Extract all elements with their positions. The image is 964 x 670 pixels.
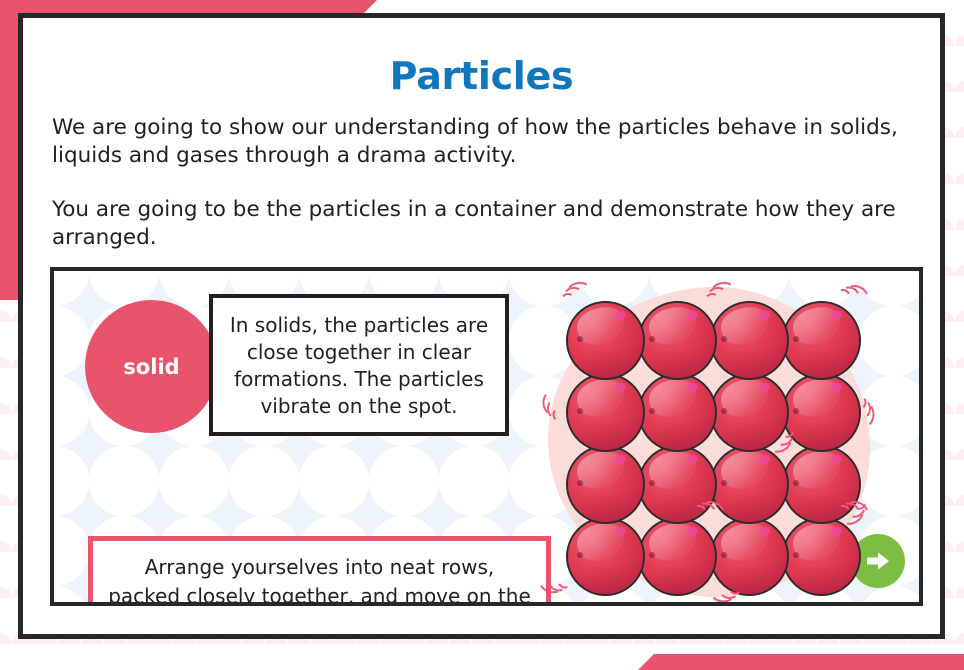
intro-paragraph-2: You are going to be the particles in a c… (52, 196, 924, 252)
particle (638, 517, 717, 596)
particle-shade (782, 566, 861, 597)
particle (782, 517, 861, 596)
particle-dimple (649, 408, 655, 414)
vibration-lines-icon (541, 571, 572, 599)
particle-dimple (649, 336, 655, 342)
decorative-band-left (0, 0, 18, 300)
state-instruction-box: Arrange yourselves into neat rows, packe… (88, 536, 551, 606)
slide-root: Particles We are going to show our under… (0, 0, 964, 670)
particle-dimple (793, 408, 799, 414)
arrow-right-icon (863, 546, 893, 576)
vibration-lines-icon (715, 582, 743, 604)
state-description-box: In solids, the particles are close toget… (209, 294, 509, 436)
particle-shade (566, 350, 645, 381)
decorative-band-bottom (654, 654, 964, 670)
state-panel: solid In solids, the particles are close… (50, 267, 923, 606)
vibration-lines-icon (854, 395, 876, 423)
particle-shade (566, 566, 645, 597)
particle-shade (782, 350, 861, 381)
vibration-lines-icon (835, 278, 867, 307)
particle-shade (638, 350, 717, 381)
particle (566, 517, 645, 596)
vibration-lines-icon (702, 281, 731, 305)
particle-dimple (577, 480, 583, 486)
intro-paragraph-1: We are going to show our understanding o… (52, 114, 924, 170)
particle (638, 301, 717, 380)
particle-shade (566, 422, 645, 453)
particle-dimple (721, 336, 727, 342)
particle-dimple (793, 336, 799, 342)
particle (710, 301, 789, 380)
vibration-lines-icon (542, 395, 564, 423)
particle-dimple (649, 480, 655, 486)
page-title: Particles (23, 54, 940, 98)
particle (566, 445, 645, 524)
particle-shade (566, 494, 645, 525)
particle-dimple (721, 408, 727, 414)
state-bubble-label: solid (123, 355, 179, 379)
particle-dimple (793, 552, 799, 558)
particle-dimple (721, 480, 727, 486)
slide-card: Particles We are going to show our under… (18, 13, 945, 639)
particle-dimple (577, 552, 583, 558)
particle-dimple (721, 552, 727, 558)
particle-dimple (577, 408, 583, 414)
particle-dimple (793, 480, 799, 486)
particle-grid (566, 301, 861, 596)
vibration-lines-icon (558, 281, 587, 305)
particle (566, 301, 645, 380)
particle-shade (638, 422, 717, 453)
particle-dimple (649, 552, 655, 558)
state-bubble-solid: solid (85, 300, 218, 433)
particle-dimple (577, 336, 583, 342)
particle (638, 373, 717, 452)
particle-shade (638, 566, 717, 597)
particle (566, 373, 645, 452)
particle-shade (710, 350, 789, 381)
particle (782, 301, 861, 380)
